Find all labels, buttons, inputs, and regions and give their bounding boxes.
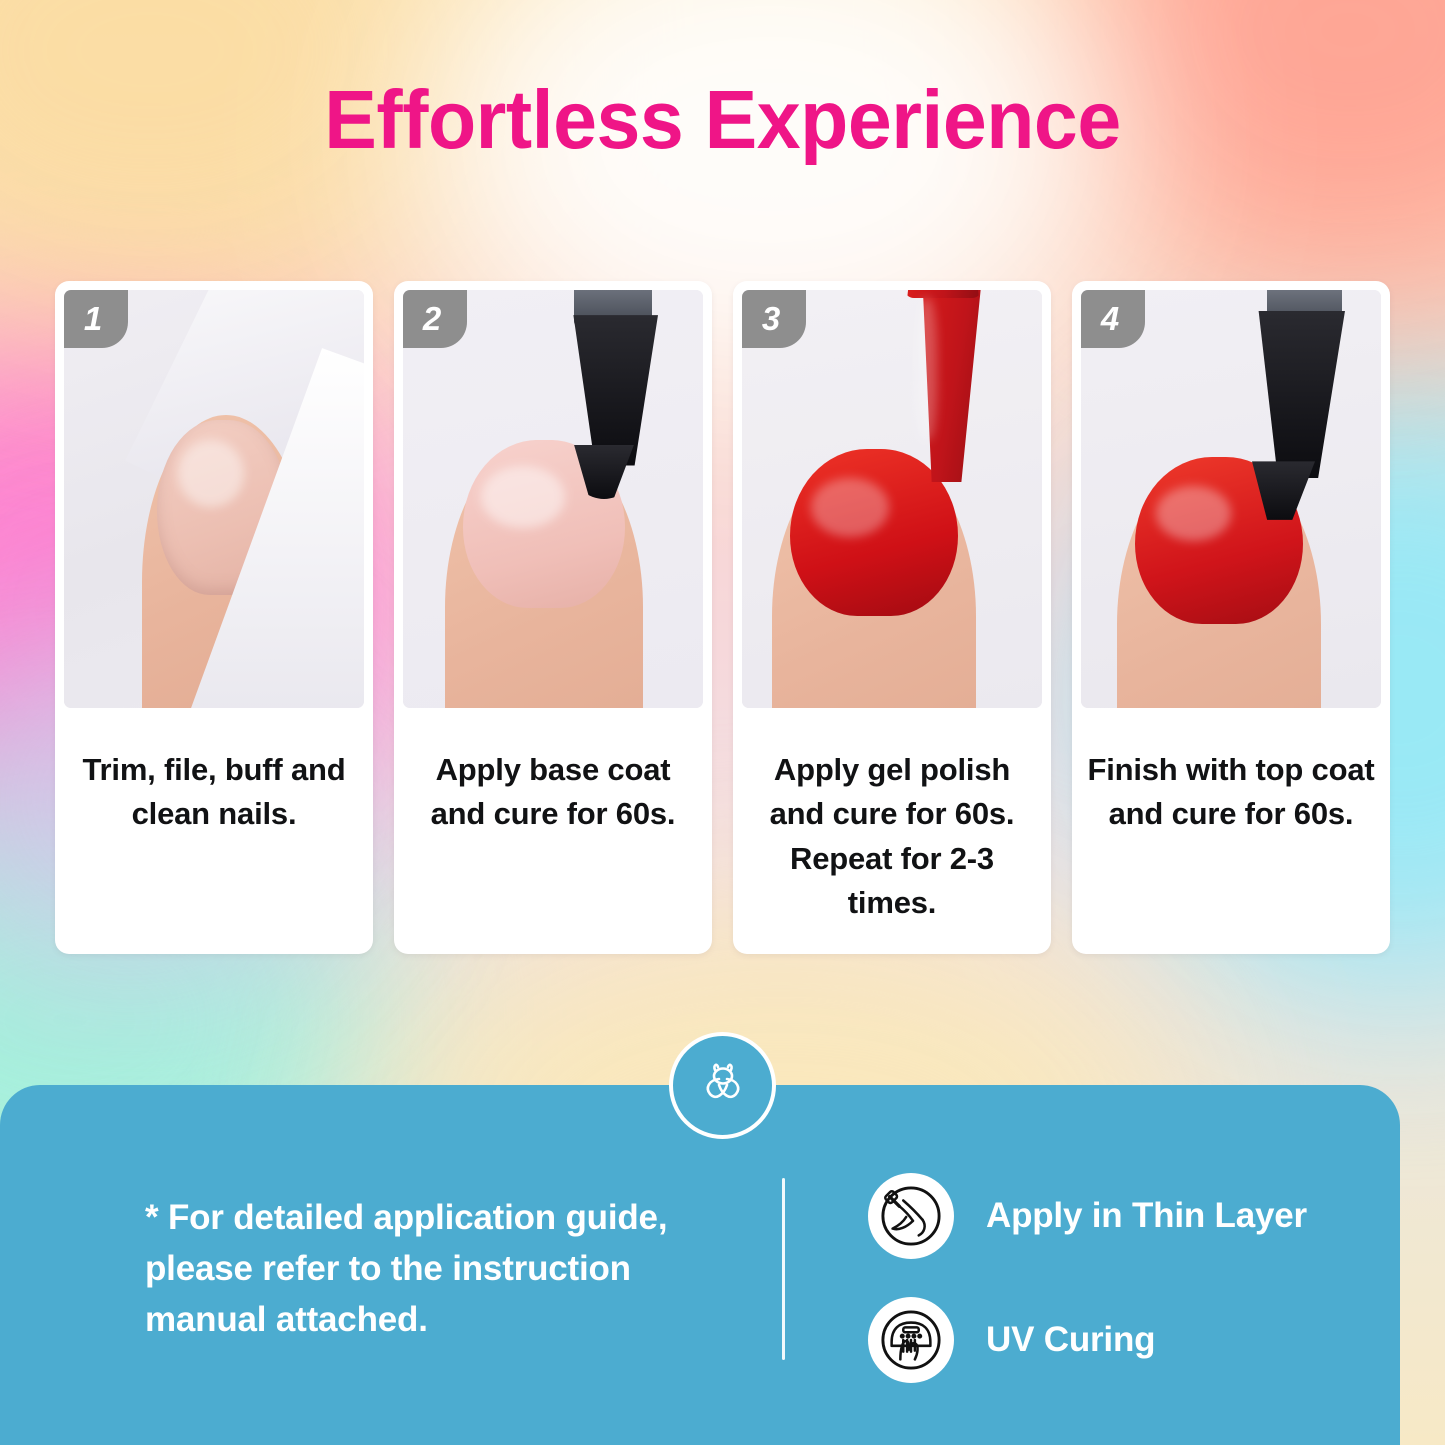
- step-caption-wrap-4: Finish with top coat and cure for 60s.: [1081, 708, 1381, 954]
- step-number-badge-3: 3: [742, 290, 806, 348]
- feature-apply-in-thin-layer: Apply in Thin Layer: [868, 1173, 1307, 1259]
- step-caption-3: Apply gel polish and cure for 60s. Repea…: [742, 748, 1042, 925]
- bee-logo-icon: [691, 1054, 755, 1118]
- step-caption-wrap-3: Apply gel polish and cure for 60s. Repea…: [742, 708, 1042, 954]
- illustration-red-polish: [742, 290, 1042, 708]
- illustration-base-coat: [403, 290, 703, 708]
- brand-logo-badge: [669, 1032, 776, 1139]
- step-caption-2: Apply base coat and cure for 60s.: [403, 748, 703, 837]
- thin-layer-brush-icon: [868, 1173, 954, 1259]
- step-photo-2: 2: [403, 290, 703, 708]
- step-number-badge-1: 1: [64, 290, 128, 348]
- step-caption-wrap-2: Apply base coat and cure for 60s.: [403, 708, 703, 954]
- illustration-top-coat: [1081, 290, 1381, 708]
- step-photo-3: 3: [742, 290, 1042, 708]
- step-caption-4: Finish with top coat and cure for 60s.: [1081, 748, 1381, 837]
- uv-lamp-curing-icon: [868, 1297, 954, 1383]
- step-caption-1: Trim, file, buff and clean nails.: [64, 748, 364, 837]
- feature-label-uv-curing: UV Curing: [986, 1320, 1155, 1360]
- page-title: Effortless Experience: [36, 72, 1409, 168]
- step-caption-wrap-1: Trim, file, buff and clean nails.: [64, 708, 364, 954]
- step-card-1[interactable]: 1 Trim, file, buff and clean nails.: [55, 281, 373, 954]
- feature-label-thin-layer: Apply in Thin Layer: [986, 1196, 1307, 1236]
- step-photo-4: 4: [1081, 290, 1381, 708]
- step-number-badge-4: 4: [1081, 290, 1145, 348]
- step-number-badge-2: 2: [403, 290, 467, 348]
- illustration-bare-nail: [64, 290, 364, 708]
- step-card-4[interactable]: 4 Finish with top coat and cure for 60s.: [1072, 281, 1390, 954]
- banner-divider: [782, 1178, 785, 1360]
- step-card-2[interactable]: 2 Apply base coat and cure for 60s.: [394, 281, 712, 954]
- step-photo-1: 1: [64, 290, 364, 708]
- steps-row: 1 Trim, file, buff and clean nails. 2 Ap…: [55, 281, 1390, 954]
- banner-note: * For detailed application guide, please…: [145, 1193, 745, 1345]
- feature-uv-curing: UV Curing: [868, 1297, 1155, 1383]
- step-card-3[interactable]: 3 Apply gel polish and cure for 60s. Rep…: [733, 281, 1051, 954]
